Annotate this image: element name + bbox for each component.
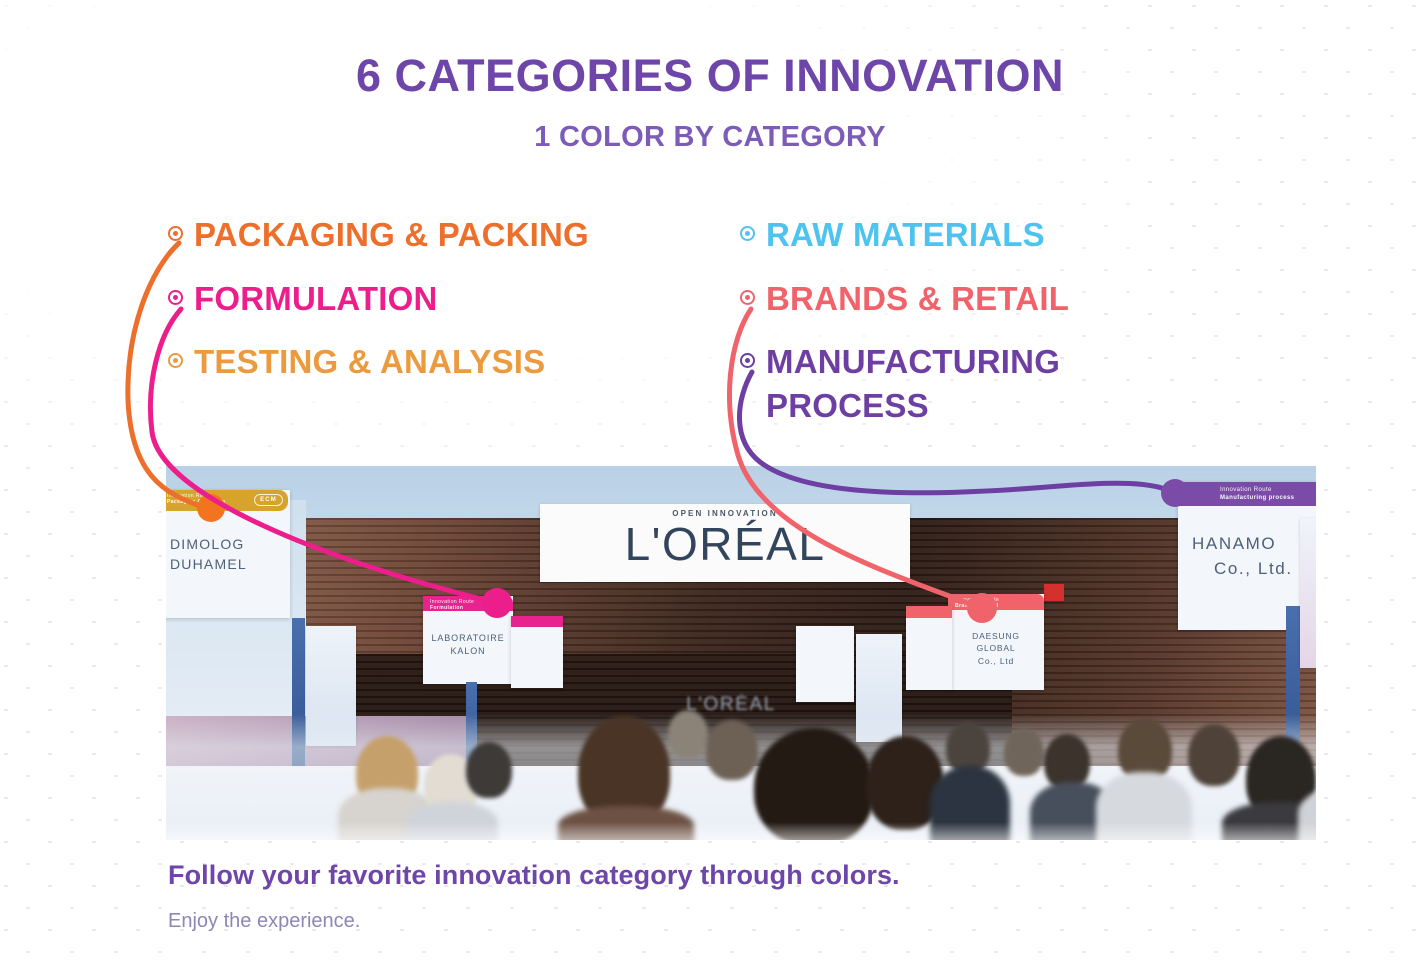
- target-dot-icon: [168, 226, 183, 241]
- photo-wall-placard: [1044, 584, 1064, 601]
- booth-name-line2: KALON: [423, 645, 513, 658]
- target-dot-icon: [740, 353, 755, 368]
- booth-name-line3: Co., Ltd: [948, 655, 1044, 667]
- booth-name-line2: GLOBAL: [948, 642, 1044, 654]
- booth-band-formulation: Innovation Route Formulation: [423, 596, 513, 611]
- target-dot-icon: [740, 290, 755, 305]
- photo-crowd-head: [706, 720, 758, 780]
- category-label: FORMULATION: [194, 277, 438, 321]
- category-label: TESTING & ANALYSIS: [194, 340, 545, 384]
- booth-sign-kalon: Innovation Route Formulation LABORATOIRE…: [423, 596, 513, 684]
- photo-wall-loreal-logo: L'ORÉAL: [636, 694, 826, 716]
- footer-headline: Follow your favorite innovation category…: [168, 860, 900, 891]
- booth-band-manufacturing: Innovation Route Manufacturing process: [1178, 482, 1316, 506]
- booth-band-formulation-2: [511, 616, 563, 627]
- booth-band-text: Innovation Route Packaging & Packing: [167, 493, 225, 506]
- booth-name-line1: DAESUNG: [948, 630, 1044, 642]
- photo-bottom-fade: [166, 822, 1316, 840]
- booth-sign-daesung: Innovation Route Brands & Retail DAESUNG…: [948, 594, 1044, 690]
- category-item-manufacturing[interactable]: MANUFACTURING PROCESS: [740, 340, 1069, 427]
- booth-name-line1: LABORATOIRE: [423, 632, 513, 645]
- booth-sign-small-left-of-daesung: [906, 606, 952, 690]
- category-label: RAW MATERIALS: [766, 213, 1045, 257]
- booth-sign-center: [796, 626, 854, 702]
- photo-crowd-head: [1004, 728, 1044, 776]
- footer-block: Follow your favorite innovation category…: [168, 860, 900, 933]
- booth-band-text: Innovation Route Brands & Retail: [955, 597, 999, 610]
- category-item-packaging[interactable]: PACKAGING & PACKING: [168, 213, 589, 257]
- booth-sign-dimolog: Innovation Route Packaging & Packing ECM…: [166, 490, 290, 618]
- category-label: MANUFACTURING PROCESS: [766, 340, 1060, 427]
- category-item-brands-retail[interactable]: BRANDS & RETAIL: [740, 277, 1069, 321]
- page-subtitle: 1 COLOR BY CATEGORY: [0, 121, 1420, 154]
- category-item-formulation[interactable]: FORMULATION: [168, 277, 589, 321]
- target-dot-icon: [740, 226, 755, 241]
- category-item-raw-materials[interactable]: RAW MATERIALS: [740, 213, 1069, 257]
- booth-band-text: Innovation Route Formulation: [430, 599, 474, 612]
- category-column-right: RAW MATERIALS BRANDS & RETAIL MANUFACTUR…: [740, 213, 1069, 427]
- target-dot-icon: [168, 353, 183, 368]
- target-dot-icon: [168, 290, 183, 305]
- category-item-testing[interactable]: TESTING & ANALYSIS: [168, 340, 589, 384]
- booth-name-line2: DUHAMEL: [170, 554, 290, 574]
- booth-band-text: Innovation Route Manufacturing process: [1220, 487, 1294, 502]
- booth-band-packaging: Innovation Route Packaging & Packing ECM: [166, 490, 288, 511]
- photo-crowd-head: [1188, 724, 1240, 786]
- category-label: PACKAGING & PACKING: [194, 213, 589, 257]
- booth-name-line2: Co., Ltd.: [1192, 557, 1316, 582]
- loreal-banner-wordmark: L'ORÉAL: [540, 521, 910, 567]
- slide-canvas: Innovation Route Packaging & Packing ECM…: [0, 0, 1420, 960]
- photo-crowd-head: [668, 710, 708, 758]
- booth-band-brands-2: [906, 606, 952, 618]
- booth-name-line1: HANAMO: [1192, 532, 1316, 557]
- booth-badge-ecm: ECM: [254, 494, 283, 507]
- tradeshow-photo: Innovation Route Packaging & Packing ECM…: [166, 466, 1316, 840]
- booth-name-line1: DIMOLOG: [170, 534, 290, 554]
- loreal-banner: OPEN INNOVATION L'ORÉAL: [540, 504, 910, 582]
- photo-panel-3: [1300, 518, 1316, 668]
- footer-subtext: Enjoy the experience.: [168, 910, 900, 933]
- photo-crowd-head: [466, 742, 512, 798]
- page-title: 6 CATEGORIES OF INNOVATION: [0, 52, 1420, 99]
- loreal-banner-kicker: OPEN INNOVATION: [540, 509, 910, 518]
- heading-block: 6 CATEGORIES OF INNOVATION 1 COLOR BY CA…: [0, 52, 1420, 154]
- booth-band-brands: Innovation Route Brands & Retail: [948, 594, 1044, 610]
- booth-sign-extra-left: [511, 616, 563, 688]
- category-label: BRANDS & RETAIL: [766, 277, 1069, 321]
- category-column-left: PACKAGING & PACKING FORMULATION TESTING …: [168, 213, 589, 384]
